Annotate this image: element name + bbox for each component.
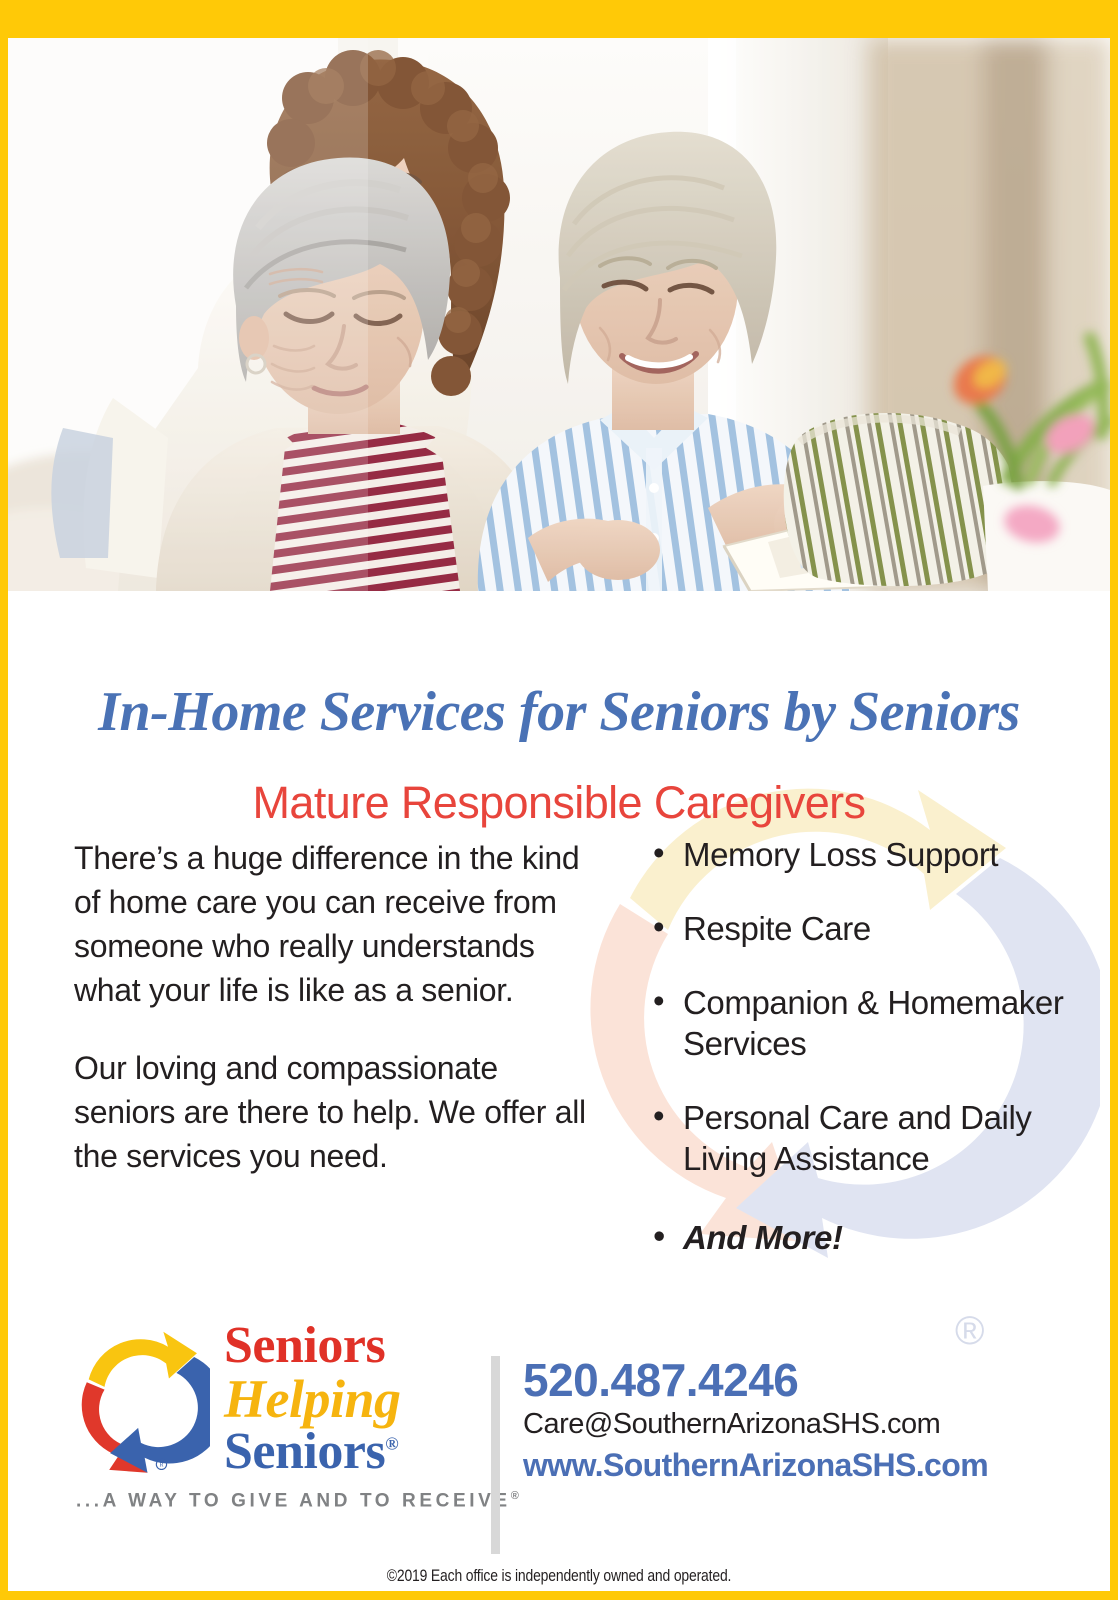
flyer-inner: ® In-Home Services for Seniors by Senior… (8, 38, 1110, 1591)
page-subtitle: Mature Responsible Caregivers (8, 777, 1110, 829)
contact-block: 520.487.4246 Care@SouthernArizonaSHS.com… (523, 1356, 1083, 1484)
logo-word-seniors-bottom: Seniors® (224, 1426, 401, 1478)
services-list: Memory Loss Support Respite Care Compani… (653, 834, 1083, 1258)
logo-tagline-text: ...A WAY TO GIVE AND TO RECEIVE (76, 1490, 511, 1511)
list-item: Personal Care and Daily Living Assistanc… (653, 1097, 1083, 1179)
list-item: Memory Loss Support (653, 834, 1083, 875)
hero-photo-illustration (8, 38, 1110, 591)
list-item: Respite Care (653, 908, 1083, 949)
logo-wordmark: Seniors Helping Seniors® (224, 1320, 401, 1478)
phone-number[interactable]: 520.487.4246 (523, 1356, 1083, 1404)
registered-trademark-mark: ® (955, 1309, 984, 1354)
website-url[interactable]: www.SouthernArizonaSHS.com (523, 1447, 1083, 1484)
logo-word-seniors-top: Seniors (224, 1320, 401, 1372)
svg-text:R: R (159, 1463, 164, 1469)
logo-arrows-icon: R (70, 1324, 210, 1474)
logo-registered-icon: ® (385, 1434, 398, 1454)
logo-word-seniors-bottom-text: Seniors (224, 1423, 385, 1480)
page-title: In-Home Services for Seniors by Seniors (8, 680, 1110, 744)
copyright-disclaimer: ©2019 Each office is independently owned… (107, 1566, 1011, 1586)
circular-arrows-logo-icon: R (70, 1324, 210, 1474)
logo-tagline-registered-icon: ® (511, 1490, 523, 1502)
hero-photo (8, 38, 1110, 591)
logo-row: R Seniors Helping Seniors® (70, 1320, 475, 1478)
body-paragraph-2: Our loving and compassionate seniors are… (74, 1046, 594, 1178)
email-address[interactable]: Care@SouthernArizonaSHS.com (523, 1408, 1083, 1441)
list-item: Companion & Homemaker Services (653, 982, 1083, 1064)
body-paragraph-1: There’s a huge difference in the kind of… (74, 836, 594, 1012)
list-item-and-more: And More! (653, 1217, 1083, 1258)
logo-word-helping: Helping (224, 1372, 401, 1426)
advertisement-flyer: ® In-Home Services for Seniors by Senior… (0, 0, 1118, 1600)
vertical-divider (491, 1356, 500, 1554)
body-copy: There’s a huge difference in the kind of… (74, 836, 594, 1212)
company-logo: R Seniors Helping Seniors® ...A WAY TO G… (70, 1320, 475, 1512)
logo-tagline: ...A WAY TO GIVE AND TO RECEIVE® (76, 1490, 475, 1512)
